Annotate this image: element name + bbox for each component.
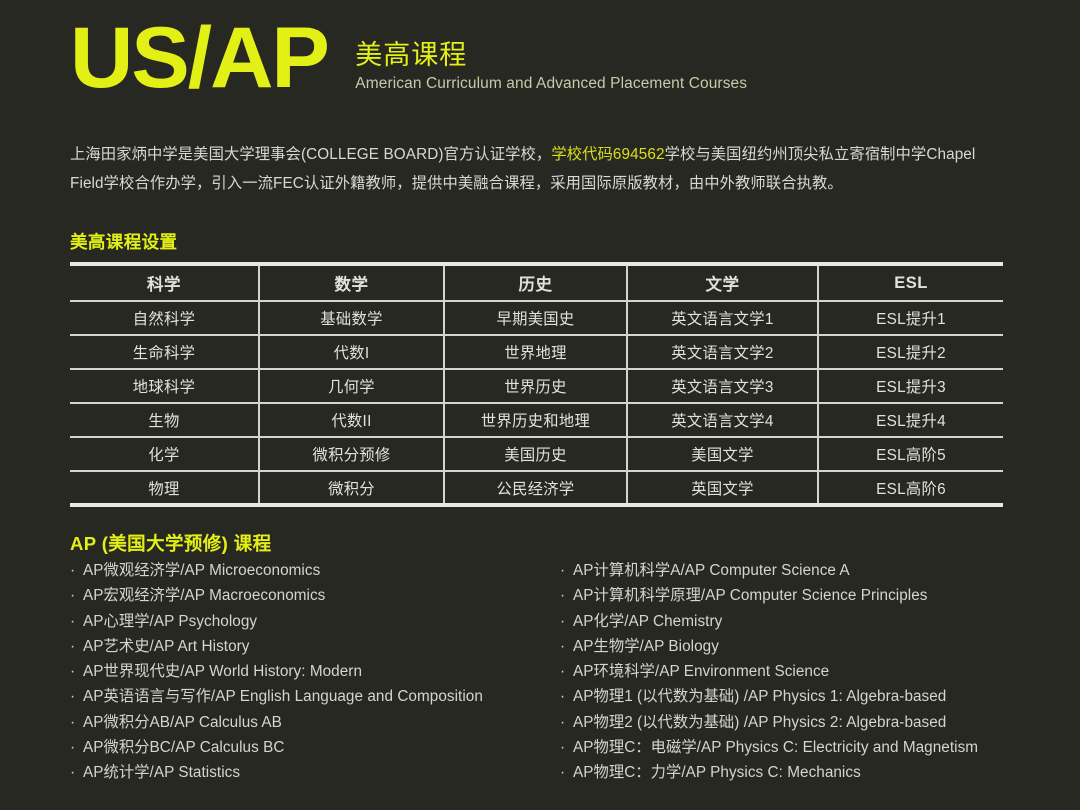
table-cell: ESL提升2 [818,335,1003,369]
bullet-icon: · [70,558,83,583]
list-item: ·AP宏观经济学/AP Macroeconomics [70,583,560,608]
table-cell: 物理 [70,471,259,505]
bullet-icon: · [70,659,83,684]
course-table-container: 科学 数学 历史 文学 ESL 自然科学 基础数学 早期美国史 英文语言文学1 … [70,262,1003,507]
table-cell: 英文语言文学1 [627,301,818,335]
list-item-label: AP环境科学/AP Environment Science [573,663,829,680]
list-item-label: AP物理2 (以代数为基础) /AP Physics 2: Algebra-ba… [573,714,946,731]
bullet-icon: · [560,684,573,709]
table-column-header-history: 历史 [444,264,627,301]
table-cell: ESL高阶6 [818,471,1003,505]
list-item: ·AP微观经济学/AP Microeconomics [70,558,560,583]
page-title-logo: US/AP [70,18,328,100]
list-item-label: AP化学/AP Chemistry [573,613,722,630]
bullet-icon: · [70,710,83,735]
list-item: ·AP生物学/AP Biology [560,634,1020,659]
list-item: ·AP英语语言与写作/AP English Language and Compo… [70,684,560,709]
table-cell: 英国文学 [627,471,818,505]
table-cell: 美国历史 [444,437,627,471]
ap-section-heading: AP (美国大学预修) 课程 [70,530,272,556]
bullet-icon: · [560,583,573,608]
bullet-icon: · [560,558,573,583]
bullet-icon: · [560,760,573,785]
intro-school-code-highlight: 学校代码694562 [551,146,664,163]
table-cell: 世界地理 [444,335,627,369]
table-cell: 微积分预修 [259,437,444,471]
list-item: ·AP物理2 (以代数为基础) /AP Physics 2: Algebra-b… [560,710,1020,735]
table-cell: 英文语言文学2 [627,335,818,369]
table-cell: 世界历史和地理 [444,403,627,437]
bullet-icon: · [70,609,83,634]
bullet-icon: · [70,735,83,760]
table-cell: 代数II [259,403,444,437]
table-column-header-literature: 文学 [627,264,818,301]
list-item-label: AP微积分BC/AP Calculus BC [83,739,284,756]
table-cell: ESL高阶5 [818,437,1003,471]
list-item: ·AP艺术史/AP Art History [70,634,560,659]
list-item: ·AP环境科学/AP Environment Science [560,659,1020,684]
table-row: 地球科学 几何学 世界历史 英文语言文学3 ESL提升3 [70,369,1003,403]
list-item: ·AP世界现代史/AP World History: Modern [70,659,560,684]
list-item-label: AP宏观经济学/AP Macroeconomics [83,587,325,604]
bullet-icon: · [70,583,83,608]
list-item-label: AP艺术史/AP Art History [83,638,249,655]
bullet-icon: · [70,634,83,659]
bullet-icon: · [70,684,83,709]
table-cell: 美国文学 [627,437,818,471]
table-cell: 英文语言文学3 [627,369,818,403]
table-cell: 世界历史 [444,369,627,403]
table-column-header-math: 数学 [259,264,444,301]
table-cell: ESL提升1 [818,301,1003,335]
intro-paragraph: 上海田家炳中学是美国大学理事会(COLLEGE BOARD)官方认证学校，学校代… [70,140,1010,198]
ap-course-list-right: ·AP计算机科学A/AP Computer Science A ·AP计算机科学… [560,558,1020,786]
intro-text-part1: 上海田家炳中学是美国大学理事会(COLLEGE BOARD)官方认证学校， [70,146,551,163]
table-cell: 生命科学 [70,335,259,369]
list-item: ·AP化学/AP Chemistry [560,609,1020,634]
list-item-label: AP微积分AB/AP Calculus AB [83,714,282,731]
bullet-icon: · [560,634,573,659]
table-cell: 几何学 [259,369,444,403]
bullet-icon: · [70,760,83,785]
table-cell: 基础数学 [259,301,444,335]
list-item-label: AP心理学/AP Psychology [83,613,257,630]
list-item-label: AP物理C：力学/AP Physics C: Mechanics [573,764,861,781]
list-item: ·AP物理C：力学/AP Physics C: Mechanics [560,760,1020,785]
list-item: ·AP物理C：电磁学/AP Physics C: Electricity and… [560,735,1020,760]
table-row: 生物 代数II 世界历史和地理 英文语言文学4 ESL提升4 [70,403,1003,437]
list-item-label: AP计算机科学A/AP Computer Science A [573,562,850,579]
list-item-label: AP物理1 (以代数为基础) /AP Physics 1: Algebra-ba… [573,688,946,705]
table-cell: ESL提升4 [818,403,1003,437]
list-item: ·AP微积分BC/AP Calculus BC [70,735,560,760]
table-cell: ESL提升3 [818,369,1003,403]
list-item: ·AP心理学/AP Psychology [70,609,560,634]
list-item-label: AP生物学/AP Biology [573,638,719,655]
list-item: ·AP统计学/AP Statistics [70,760,560,785]
list-item-label: AP统计学/AP Statistics [83,764,240,781]
ap-course-lists: ·AP微观经济学/AP Microeconomics ·AP宏观经济学/AP M… [70,558,1020,786]
page-title-subtitle-group: 美高课程 American Curriculum and Advanced Pl… [327,39,747,100]
table-header-row: 科学 数学 历史 文学 ESL [70,264,1003,301]
table-cell: 微积分 [259,471,444,505]
table-row: 化学 微积分预修 美国历史 美国文学 ESL高阶5 [70,437,1003,471]
high-school-section-heading: 美高课程设置 [70,229,177,254]
table-row: 自然科学 基础数学 早期美国史 英文语言文学1 ESL提升1 [70,301,1003,335]
table-column-header-science: 科学 [70,264,259,301]
list-item-label: AP物理C：电磁学/AP Physics C: Electricity and … [573,739,978,756]
table-cell: 代数I [259,335,444,369]
list-item: ·AP物理1 (以代数为基础) /AP Physics 1: Algebra-b… [560,684,1020,709]
bullet-icon: · [560,735,573,760]
page-title-chinese: 美高课程 [355,39,747,73]
table-cell: 自然科学 [70,301,259,335]
list-item-label: AP微观经济学/AP Microeconomics [83,562,320,579]
table-cell: 化学 [70,437,259,471]
list-item-label: AP世界现代史/AP World History: Modern [83,663,362,680]
bullet-icon: · [560,659,573,684]
bullet-icon: · [560,710,573,735]
bullet-icon: · [560,609,573,634]
ap-course-list-left: ·AP微观经济学/AP Microeconomics ·AP宏观经济学/AP M… [70,558,560,786]
list-item-label: AP计算机科学原理/AP Computer Science Principles [573,587,928,604]
list-item: ·AP计算机科学A/AP Computer Science A [560,558,1020,583]
table-row: 生命科学 代数I 世界地理 英文语言文学2 ESL提升2 [70,335,1003,369]
table-cell: 生物 [70,403,259,437]
table-cell: 地球科学 [70,369,259,403]
page-title-english: American Curriculum and Advanced Placeme… [355,72,747,95]
table-column-header-esl: ESL [818,264,1003,301]
page-header: US/AP 美高课程 American Curriculum and Advan… [70,18,1020,128]
table-cell: 公民经济学 [444,471,627,505]
table-cell: 英文语言文学4 [627,403,818,437]
table-row: 物理 微积分 公民经济学 英国文学 ESL高阶6 [70,471,1003,505]
table-cell: 早期美国史 [444,301,627,335]
list-item: ·AP计算机科学原理/AP Computer Science Principle… [560,583,1020,608]
high-school-course-table: 科学 数学 历史 文学 ESL 自然科学 基础数学 早期美国史 英文语言文学1 … [70,262,1003,507]
list-item: ·AP微积分AB/AP Calculus AB [70,710,560,735]
list-item-label: AP英语语言与写作/AP English Language and Compos… [83,688,483,705]
